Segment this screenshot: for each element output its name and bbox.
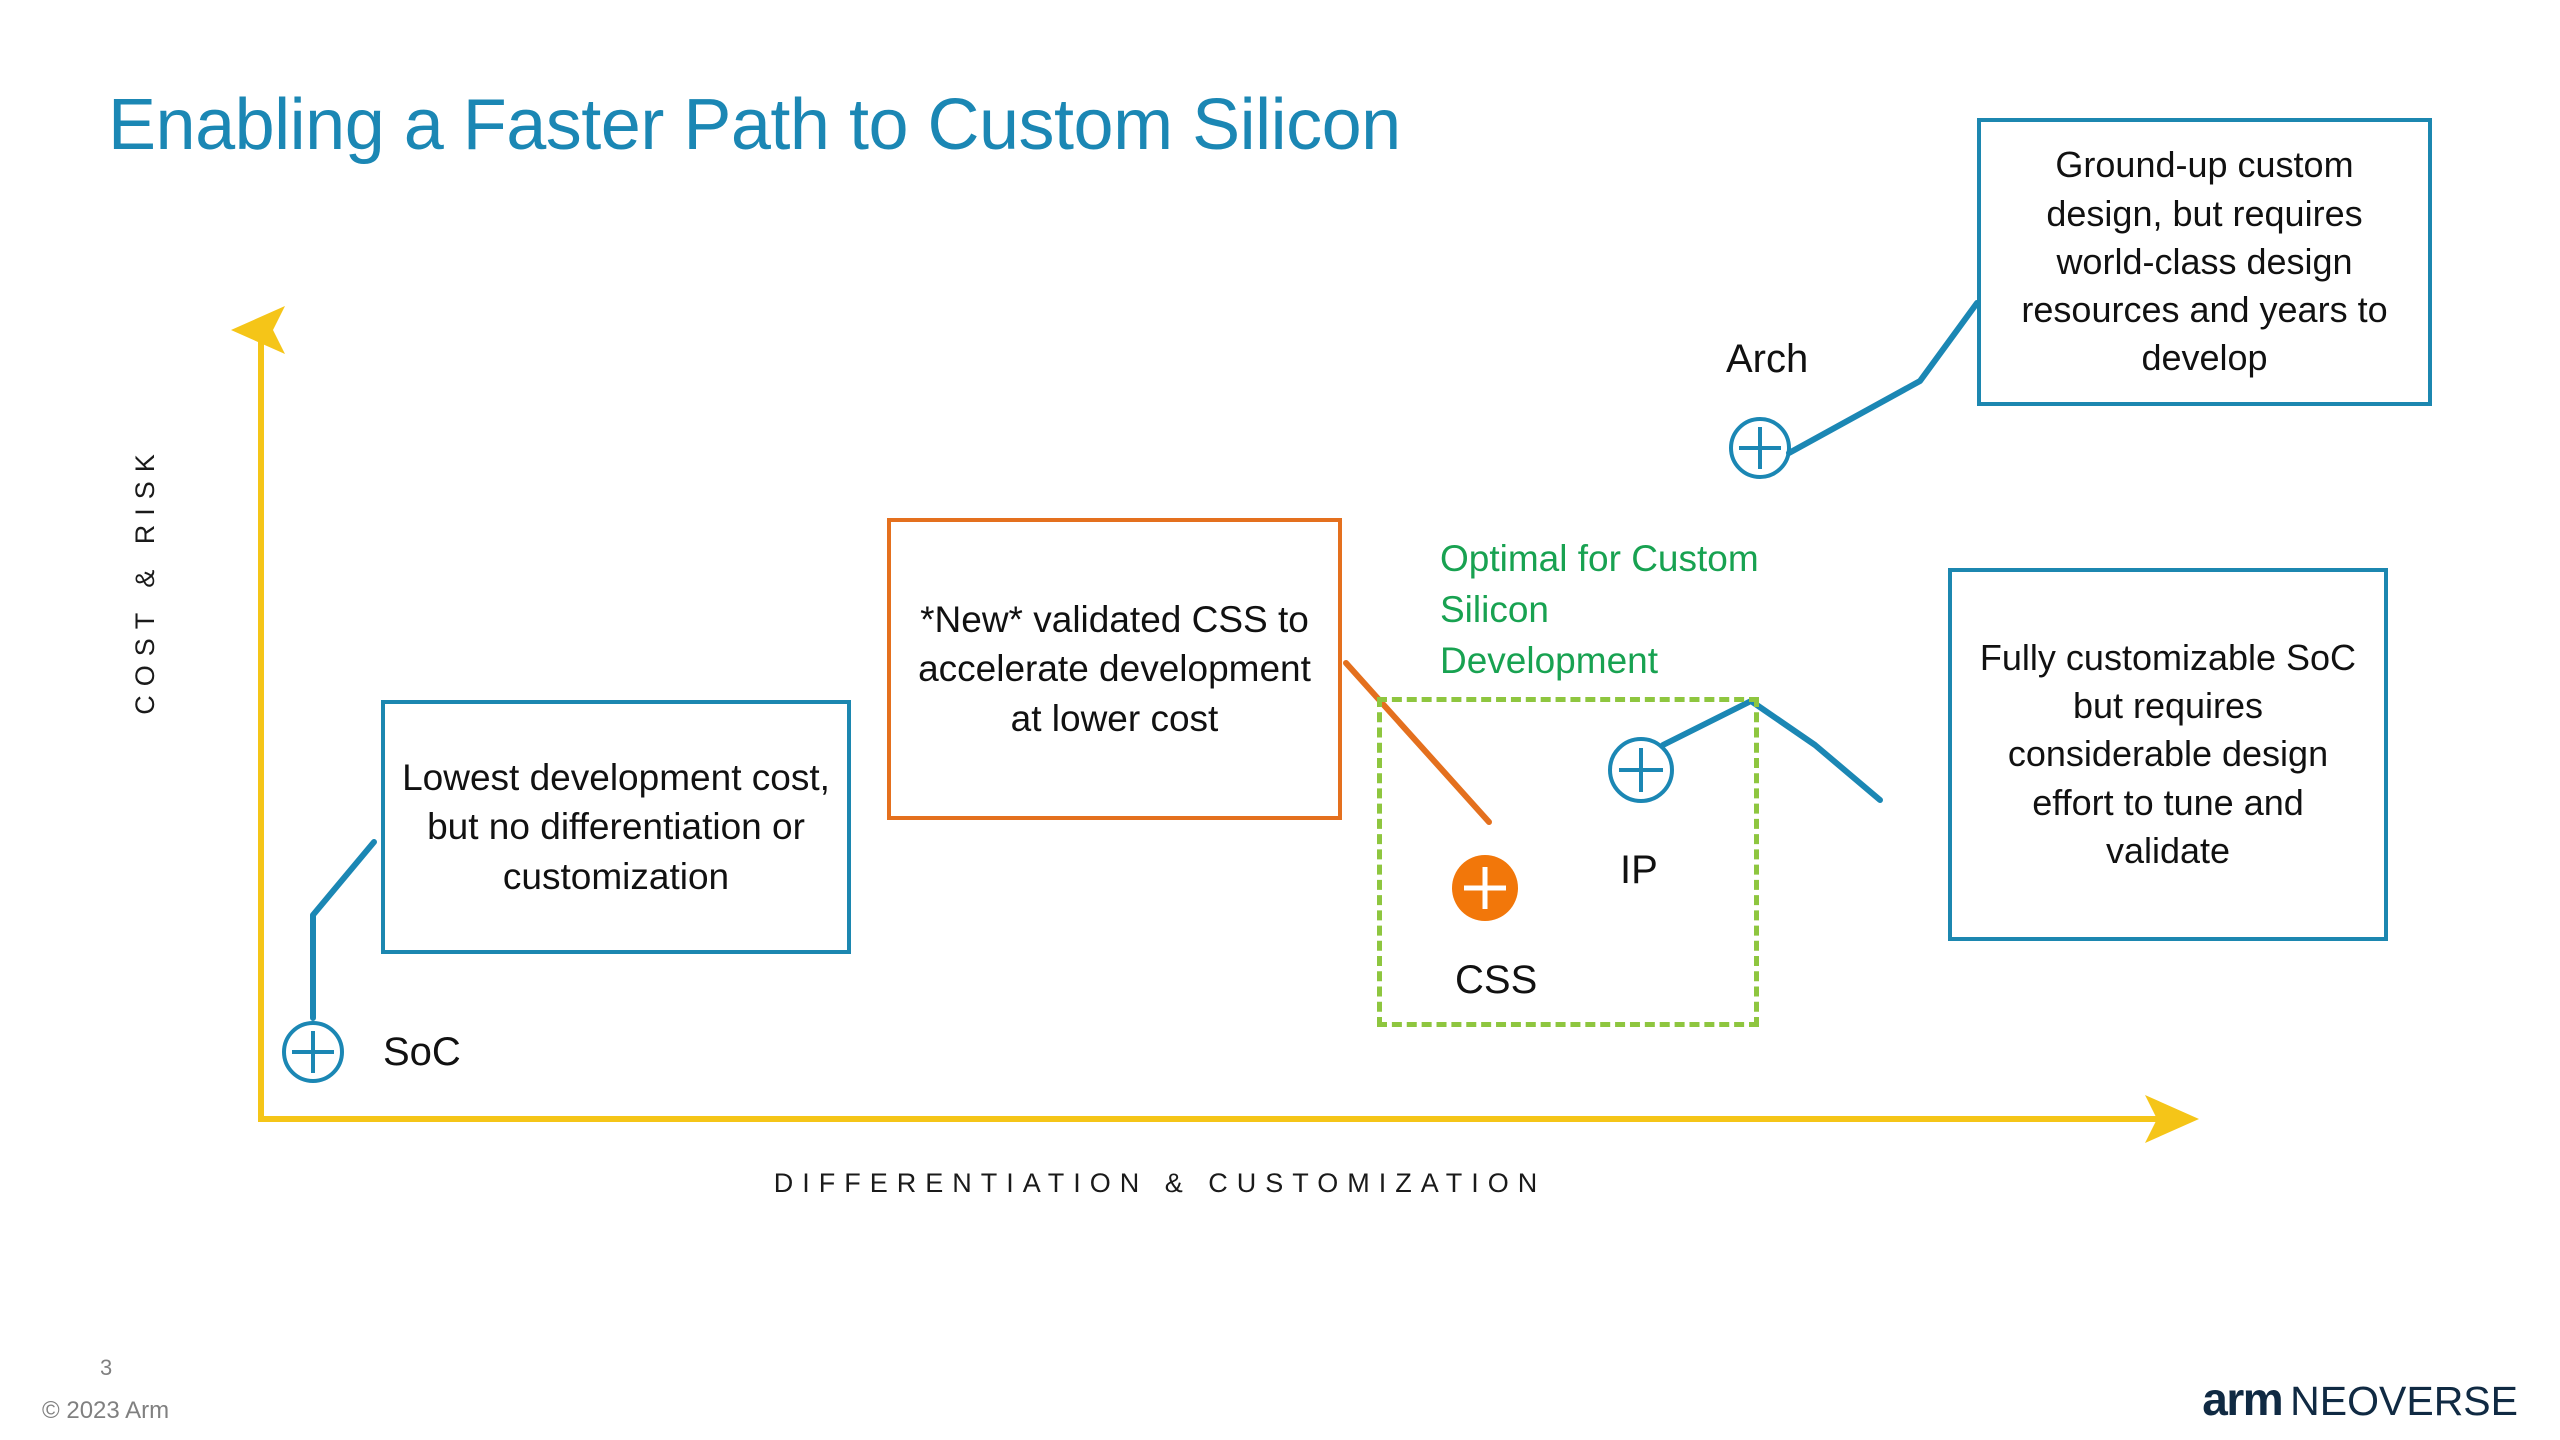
node-soc	[282, 1021, 344, 1083]
connector-arch	[1789, 303, 1977, 453]
crosshair-icon	[282, 1021, 344, 1083]
callout-ground-up-custom: Ground-up custom design, but requires wo…	[1977, 118, 2432, 406]
crosshair-icon	[1452, 855, 1518, 921]
node-arch	[1729, 417, 1791, 479]
slide-canvas: Enabling a Faster Path to Custom Silicon…	[0, 0, 2560, 1440]
node-ip	[1608, 737, 1674, 803]
x-axis-label: DIFFERENTIATION & CUSTOMIZATION	[460, 1168, 1860, 1199]
node-label-ip: IP	[1620, 848, 1658, 893]
brand-arm-wordmark: arm	[2202, 1372, 2282, 1426]
callout-fully-customizable: Fully customizable SoC but requires cons…	[1948, 568, 2388, 941]
connector-soc	[313, 842, 374, 1018]
optimal-annotation: Optimal for Custom Silicon Development	[1440, 533, 1760, 686]
brand-logo: arm NEOVERSE	[2202, 1372, 2518, 1426]
brand-neoverse-wordmark: NEOVERSE	[2290, 1378, 2518, 1425]
node-label-soc: SoC	[383, 1030, 461, 1075]
node-css	[1452, 855, 1518, 921]
node-label-arch: Arch	[1726, 337, 1808, 382]
page-number: 3	[100, 1355, 112, 1381]
callout-new-validated-css: *New* validated CSS to accelerate develo…	[887, 518, 1342, 820]
node-label-css: CSS	[1455, 958, 1537, 1003]
callout-lowest-development-cost: Lowest development cost, but no differen…	[381, 700, 851, 954]
y-axis-label: COST & RISK	[130, 430, 161, 730]
copyright-notice: © 2023 Arm	[42, 1397, 169, 1425]
crosshair-icon	[1608, 737, 1674, 803]
optimal-region-highlight	[1377, 697, 1759, 1027]
crosshair-icon	[1729, 417, 1791, 479]
